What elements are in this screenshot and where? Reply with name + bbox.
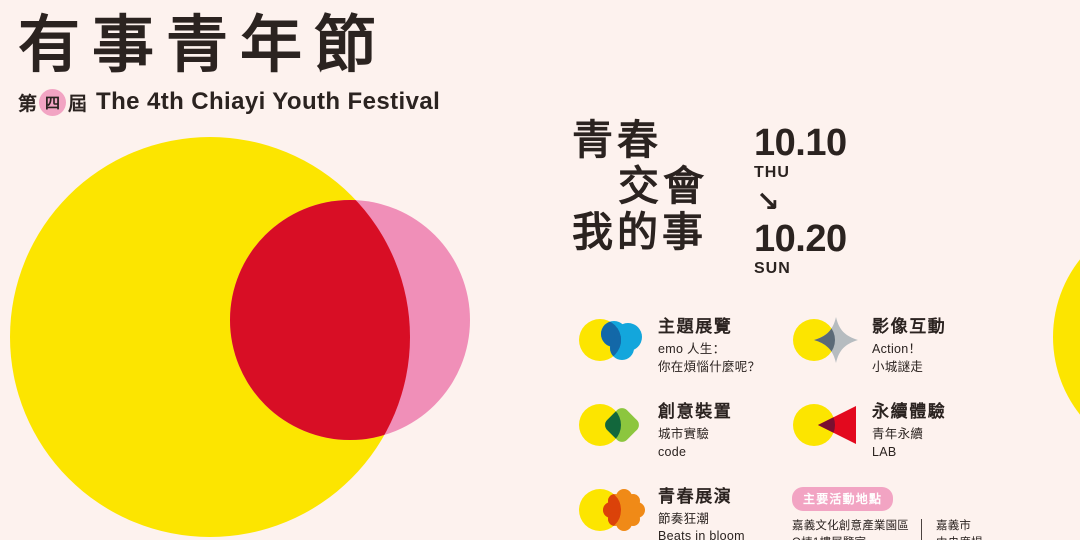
subtitle-row: 第 四 屆 The 4th Chiayi Youth Festival — [18, 88, 440, 116]
program-item-subtitle: 城市實驗 code — [658, 426, 732, 461]
program-item-title: 影像互動 — [872, 317, 946, 337]
program-item-subtitle: Action！ 小城謎走 — [872, 341, 946, 376]
venue-block: 主要活動地點 嘉義文化創意產業園區 O棟1樓展覽室 嘉義市 中央廣場 — [792, 485, 1006, 540]
program-item-sub2: 小城謎走 — [872, 359, 946, 376]
edition-ordinal: 第 四 屆 — [18, 89, 87, 116]
program-item-title: 青春展演 — [658, 487, 745, 507]
yellow-circle-red-triangle-icon — [792, 400, 860, 450]
venue-divider — [921, 519, 922, 540]
yellow-circle-blue-cloud-icon — [578, 315, 646, 365]
program-item-sustainability[interactable]: 永續體驗 青年永續 LAB — [792, 400, 1006, 461]
ordinal-prefix: 第 — [18, 89, 37, 116]
slogan: 青春 交會 我的事 — [572, 118, 708, 256]
venue-primary-line1: 嘉義文化創意產業園區 — [792, 518, 909, 535]
start-day-of-week: THU — [754, 164, 847, 182]
program-item-subtitle: 節奏狂潮 Beats in bloom — [658, 511, 745, 540]
headline-block: 青春 交會 我的事 10.10 THU ↘ 10.20 SUN — [572, 118, 1072, 278]
slogan-line-1: 青春 — [572, 118, 708, 164]
slogan-line-3: 我的事 — [572, 210, 708, 256]
program-item-sub1: emo 人生： — [658, 341, 760, 358]
venue-primary: 嘉義文化創意產業園區 O棟1樓展覽室 — [792, 518, 909, 540]
slogan-line-2: 交會 — [572, 164, 708, 210]
program-item-exhibition[interactable]: 主題展覽 emo 人生： 你在煩惱什麼呢？ — [578, 315, 792, 376]
program-item-text: 影像互動 Action！ 小城謎走 — [872, 315, 946, 376]
masthead: 有事青年節 第 四 屆 The 4th Chiayi Youth Festiva… — [18, 14, 440, 116]
program-items-grid: 主題展覽 emo 人生： 你在煩惱什麼呢？ — [578, 315, 1072, 540]
program-item-text: 永續體驗 青年永續 LAB — [872, 400, 946, 461]
venue-secondary-line2: 中央廣場 — [936, 535, 983, 540]
program-item-sub1: 青年永續 — [872, 426, 946, 443]
program-item-text: 青春展演 節奏狂潮 Beats in bloom — [658, 485, 745, 540]
yellow-circle-green-diamond-icon — [578, 400, 646, 450]
yellow-circle-gray-star-icon — [792, 315, 860, 365]
program-item-subtitle: 青年永續 LAB — [872, 426, 946, 461]
page-title: 有事青年節 — [18, 14, 440, 76]
program-item-sub1: 節奏狂潮 — [658, 511, 745, 528]
program-item-performance[interactable]: 青春展演 節奏狂潮 Beats in bloom — [578, 485, 792, 540]
end-date: 10.20 — [754, 220, 847, 258]
program-item-title: 創意裝置 — [658, 402, 732, 422]
program-item-sub1: 城市實驗 — [658, 426, 732, 443]
arrow-down-right-icon: ↘ — [756, 188, 847, 216]
ordinal-number-badge: 四 — [39, 89, 66, 116]
program-item-installation[interactable]: 創意裝置 城市實驗 code — [578, 400, 792, 461]
ordinal-suffix: 屆 — [68, 89, 87, 116]
start-date: 10.10 — [754, 124, 847, 162]
program-item-title: 永續體驗 — [872, 402, 946, 422]
venue-primary-line2: O棟1樓展覽室 — [792, 535, 909, 540]
program-item-sub2: code — [658, 444, 732, 461]
program-item-title: 主題展覽 — [658, 317, 760, 337]
venue-secondary-line1: 嘉義市 — [936, 518, 983, 535]
venue-badge: 主要活動地點 — [792, 487, 893, 511]
festival-poster: 有事青年節 第 四 屆 The 4th Chiayi Youth Festiva… — [0, 0, 1080, 540]
program-item-video[interactable]: 影像互動 Action！ 小城謎走 — [792, 315, 1006, 376]
date-range: 10.10 THU ↘ 10.20 SUN — [754, 118, 847, 278]
venue-rows: 嘉義文化創意產業園區 O棟1樓展覽室 嘉義市 中央廣場 — [792, 518, 1006, 540]
program-item-subtitle: emo 人生： 你在煩惱什麼呢？ — [658, 341, 760, 376]
info-panel: 青春 交會 我的事 10.10 THU ↘ 10.20 SUN — [572, 118, 1072, 540]
program-item-text: 創意裝置 城市實驗 code — [658, 400, 732, 461]
program-item-sub2: Beats in bloom — [658, 528, 745, 540]
page-subtitle-en: The 4th Chiayi Youth Festival — [96, 88, 440, 116]
program-item-sub1: Action！ — [872, 341, 946, 358]
end-day-of-week: SUN — [754, 260, 847, 278]
program-item-sub2: LAB — [872, 444, 946, 461]
program-item-text: 主題展覽 emo 人生： 你在煩惱什麼呢？ — [658, 315, 760, 376]
program-item-sub2: 你在煩惱什麼呢？ — [658, 359, 760, 376]
yellow-circle-orange-flower-icon — [578, 485, 646, 535]
venue-secondary: 嘉義市 中央廣場 — [936, 518, 983, 540]
